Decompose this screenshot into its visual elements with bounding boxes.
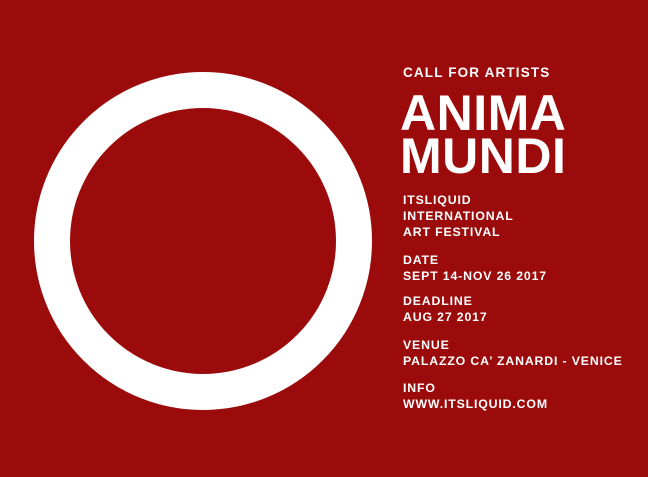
ring-circle-graphic bbox=[34, 72, 372, 410]
organization-descriptor-line-1: INTERNATIONAL bbox=[403, 208, 514, 224]
call-for-artists-eyebrow: CALL FOR ARTISTS bbox=[403, 65, 550, 81]
ring-circle-stroke bbox=[52, 90, 354, 392]
date-value: SEPT 14-NOV 26 2017 bbox=[403, 268, 547, 284]
organization-block: ITSLIQUID INTERNATIONAL ART FESTIVAL bbox=[403, 192, 514, 240]
poster-title-line-2: MUNDI bbox=[400, 135, 566, 178]
deadline-value: AUG 27 2017 bbox=[403, 309, 488, 325]
deadline-block: DEADLINE AUG 27 2017 bbox=[403, 293, 488, 325]
text-column: CALL FOR ARTISTS ANIMA MUNDI ITSLIQUID I… bbox=[403, 0, 638, 477]
info-block: INFO WWW.ITSLIQUID.COM bbox=[403, 380, 548, 412]
venue-value: PALAZZO CA’ ZANARDI - VENICE bbox=[403, 353, 623, 369]
date-label: DATE bbox=[403, 252, 547, 268]
venue-block: VENUE PALAZZO CA’ ZANARDI - VENICE bbox=[403, 337, 623, 369]
organization-descriptor-line-2: ART FESTIVAL bbox=[403, 224, 514, 240]
info-website[interactable]: WWW.ITSLIQUID.COM bbox=[403, 396, 548, 412]
organization-name: ITSLIQUID bbox=[403, 192, 514, 208]
venue-label: VENUE bbox=[403, 337, 623, 353]
deadline-label: DEADLINE bbox=[403, 293, 488, 309]
poster-title: ANIMA MUNDI bbox=[400, 92, 566, 178]
info-label: INFO bbox=[403, 380, 548, 396]
date-block: DATE SEPT 14-NOV 26 2017 bbox=[403, 252, 547, 284]
poster-canvas: CALL FOR ARTISTS ANIMA MUNDI ITSLIQUID I… bbox=[0, 0, 648, 477]
